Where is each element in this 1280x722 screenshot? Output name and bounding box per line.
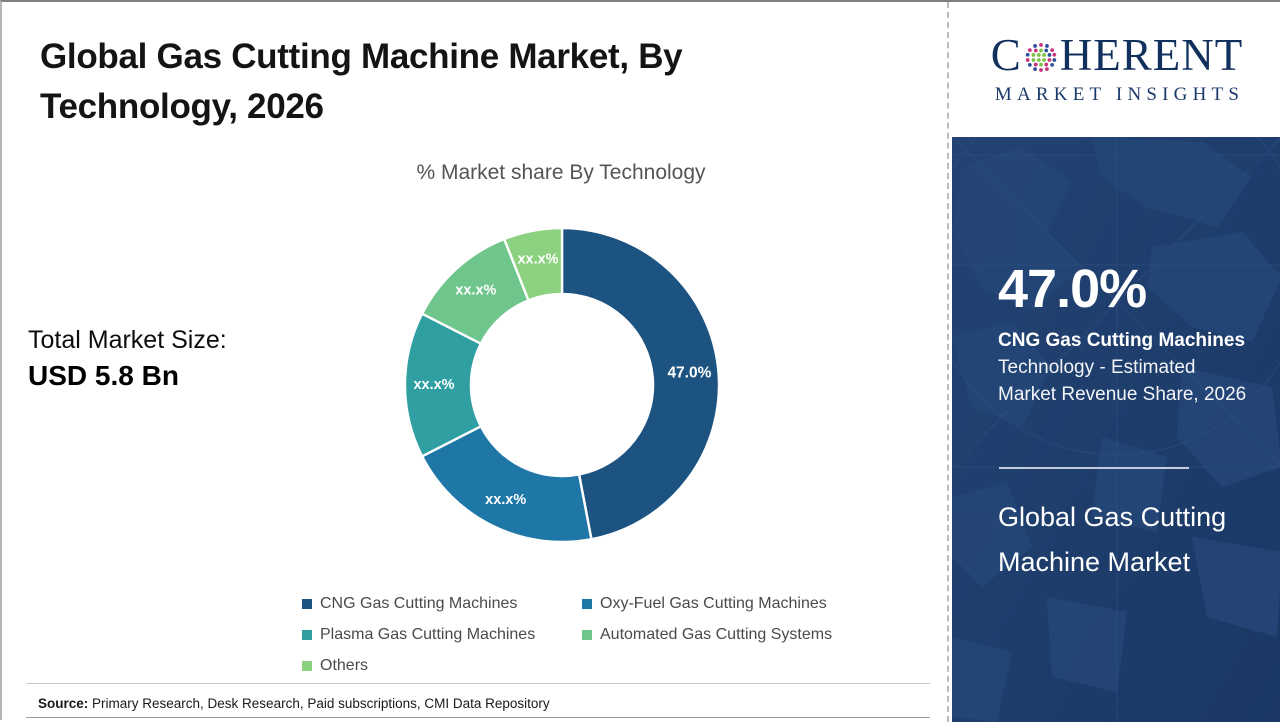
legend-label: CNG Gas Cutting Machines: [320, 595, 517, 613]
brand-name-part2: HERENT: [1060, 33, 1243, 78]
page-title: Global Gas Cutting Machine Market, By Te…: [40, 32, 780, 131]
source-text: Primary Research, Desk Research, Paid su…: [88, 696, 549, 711]
legend-swatch-icon: [302, 630, 312, 640]
total-market-size-label: Total Market Size:: [28, 324, 328, 357]
highlight-description-bold: CNG Gas Cutting Machines: [998, 330, 1245, 351]
donut-slice-label: xx.x%: [455, 282, 496, 298]
chart-subtitle: % Market share By Technology: [200, 161, 922, 185]
highlight-divider: [999, 467, 1189, 469]
source-note: Source: Primary Research, Desk Research,…: [38, 696, 550, 711]
legend-item[interactable]: Others: [302, 650, 582, 681]
donut-slice-label: xx.x%: [413, 377, 454, 393]
donut-chart: 47.0%xx.x%xx.x%xx.x%xx.x%: [394, 217, 730, 553]
highlight-panel: 47.0% CNG Gas Cutting Machines Technolog…: [952, 137, 1280, 722]
donut-slice-label: xx.x%: [517, 251, 558, 267]
legend-swatch-icon: [582, 630, 592, 640]
infographic-frame: Global Gas Cutting Machine Market, By Te…: [0, 0, 1280, 720]
source-label: Source:: [38, 696, 88, 711]
highlight-description-rest: Technology - Estimated Market Revenue Sh…: [998, 357, 1246, 405]
donut-chart-svg: 47.0%xx.x%xx.x%xx.x%xx.x%: [394, 217, 730, 553]
left-content-panel: Global Gas Cutting Machine Market, By Te…: [2, 2, 948, 722]
legend-swatch-icon: [582, 599, 592, 609]
legend-swatch-icon: [302, 661, 312, 671]
legend-item[interactable]: Oxy-Fuel Gas Cutting Machines: [582, 588, 862, 619]
legend-label: Plasma Gas Cutting Machines: [320, 626, 535, 644]
brand-tagline: MARKET INSIGHTS: [990, 84, 1244, 106]
legend-item[interactable]: CNG Gas Cutting Machines: [302, 588, 582, 619]
total-market-size-value: USD 5.8 Bn: [28, 357, 328, 394]
brand-logo: C: [952, 2, 1280, 137]
legend-swatch-icon: [302, 599, 312, 609]
globe-dots-icon: [1023, 40, 1059, 76]
legend-label: Automated Gas Cutting Systems: [600, 626, 832, 644]
brand-name-part1: C: [991, 33, 1022, 78]
donut-slice: [562, 228, 719, 539]
brand-logo-wordmark: C: [991, 33, 1244, 78]
legend-label: Oxy-Fuel Gas Cutting Machines: [600, 595, 827, 613]
legend-item[interactable]: Automated Gas Cutting Systems: [582, 619, 862, 650]
legend-label: Others: [320, 657, 368, 675]
highlight-percent: 47.0%: [998, 262, 1146, 316]
vertical-dashed-divider: [947, 2, 949, 722]
legend-item[interactable]: Plasma Gas Cutting Machines: [302, 619, 582, 650]
donut-slice-label: 47.0%: [667, 364, 711, 381]
highlight-description: CNG Gas Cutting Machines Technology - Es…: [998, 327, 1248, 408]
source-divider-top: [26, 683, 930, 684]
highlight-market-name: Global Gas Cutting Machine Market: [998, 495, 1228, 586]
total-market-size-block: Total Market Size: USD 5.8 Bn: [28, 324, 328, 394]
right-sidebar: C: [952, 2, 1280, 722]
highlight-panel-content: 47.0% CNG Gas Cutting Machines Technolog…: [952, 137, 1280, 722]
chart-legend: CNG Gas Cutting MachinesOxy-Fuel Gas Cut…: [302, 588, 862, 681]
donut-slice-label: xx.x%: [485, 492, 526, 508]
source-divider-bottom: [26, 717, 930, 718]
